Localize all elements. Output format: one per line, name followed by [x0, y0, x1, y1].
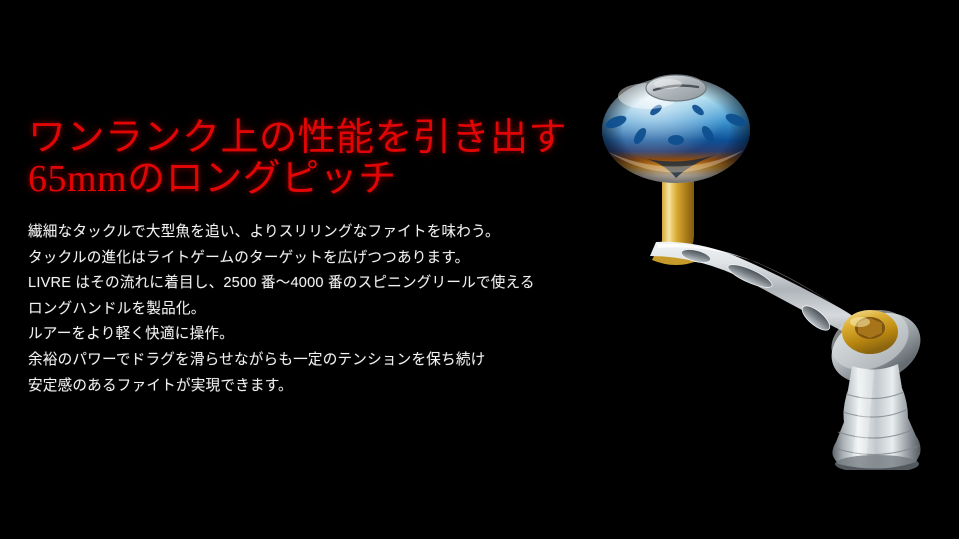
- description-line: 安定感のあるファイトが実現できます。: [28, 374, 628, 400]
- page-title: ワンランク上の性能を引き出す 65mmのロングピッチ: [28, 118, 628, 200]
- headline-line-1: ワンランク上の性能を引き出す: [28, 118, 628, 159]
- gold-hex-screw: [842, 310, 898, 354]
- copy-block: ワンランク上の性能を引き出す 65mmのロングピッチ 繊細なタックルで大型魚を追…: [28, 118, 628, 399]
- description-paragraph: 繊細なタックルで大型魚を追い、よりスリリングなファイトを味わう。 タックルの進化…: [28, 220, 628, 399]
- product-image: [590, 60, 959, 470]
- knob-cap: [646, 75, 706, 101]
- description-line: タックルの進化はライトゲームのターゲットを広げつつあります。: [28, 246, 628, 272]
- description-line: ルアーをより軽く快適に操作。: [28, 322, 628, 348]
- headline-line-2: 65mmのロングピッチ: [28, 159, 628, 200]
- description-line: 繊細なタックルで大型魚を追い、よりスリリングなファイトを味わう。: [28, 220, 628, 246]
- description-line: ロングハンドルを製品化。: [28, 297, 628, 323]
- description-line: 余裕のパワーでドラグを滑らせながらも一定のテンションを保ち続け: [28, 348, 628, 374]
- banner-stage: ワンランク上の性能を引き出す 65mmのロングピッチ 繊細なタックルで大型魚を追…: [0, 0, 959, 539]
- anodized-titanium-knob: [602, 75, 750, 183]
- description-line: LIVRE はその流れに着目し、2500 番〜4000 番のスピニングリールで使…: [28, 271, 628, 297]
- arm-cutouts: [680, 247, 833, 334]
- silver-pedestal-nut: [832, 364, 920, 470]
